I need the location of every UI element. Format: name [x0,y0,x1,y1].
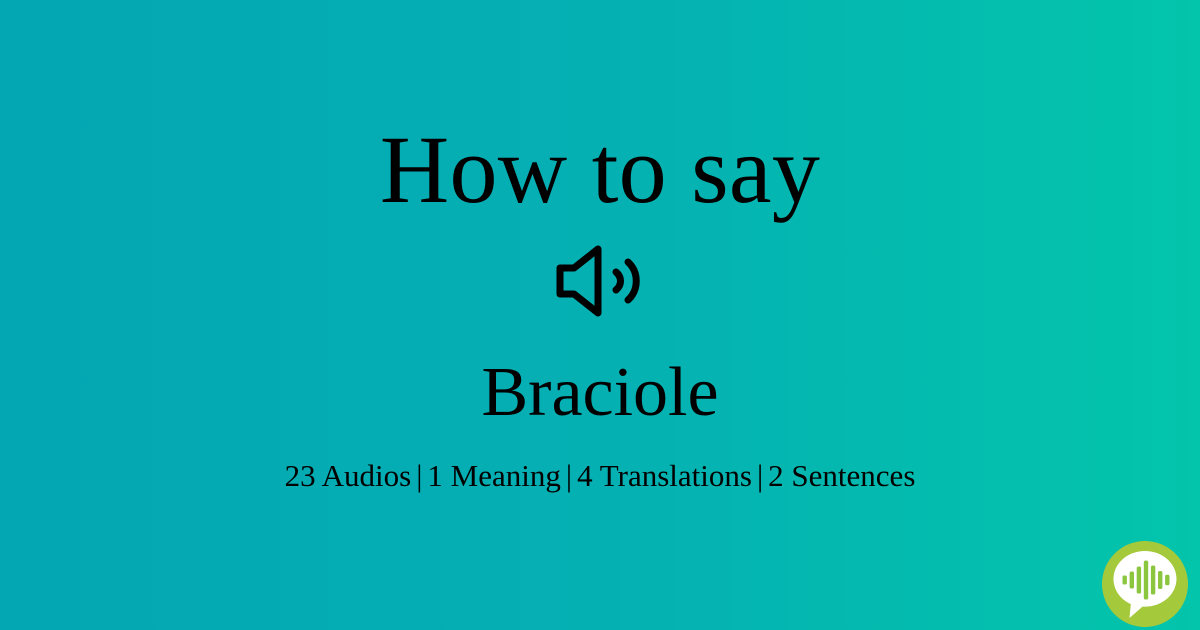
stat-meanings: 1 Meaning [427,458,560,493]
stats-line: 23 Audios|1 Meaning|4 Translations|2 Sen… [285,457,916,494]
stat-separator-1: | [411,458,427,493]
stat-sentences: 2 Sentences [768,458,915,493]
stat-audios: 23 Audios [285,458,412,493]
share-card: How to say Braciole 23 Audios|1 Meaning|… [0,0,1200,630]
speaker-volume-icon [554,244,646,318]
pronunciation-word: Braciole [481,354,718,431]
stat-translations: 4 Translations [577,458,752,493]
brand-logo [1102,541,1188,627]
stat-separator-2: | [561,458,577,493]
page-title: How to say [380,118,820,222]
card-content: How to say Braciole 23 Audios|1 Meaning|… [0,0,1200,630]
stat-separator-3: | [752,458,768,493]
